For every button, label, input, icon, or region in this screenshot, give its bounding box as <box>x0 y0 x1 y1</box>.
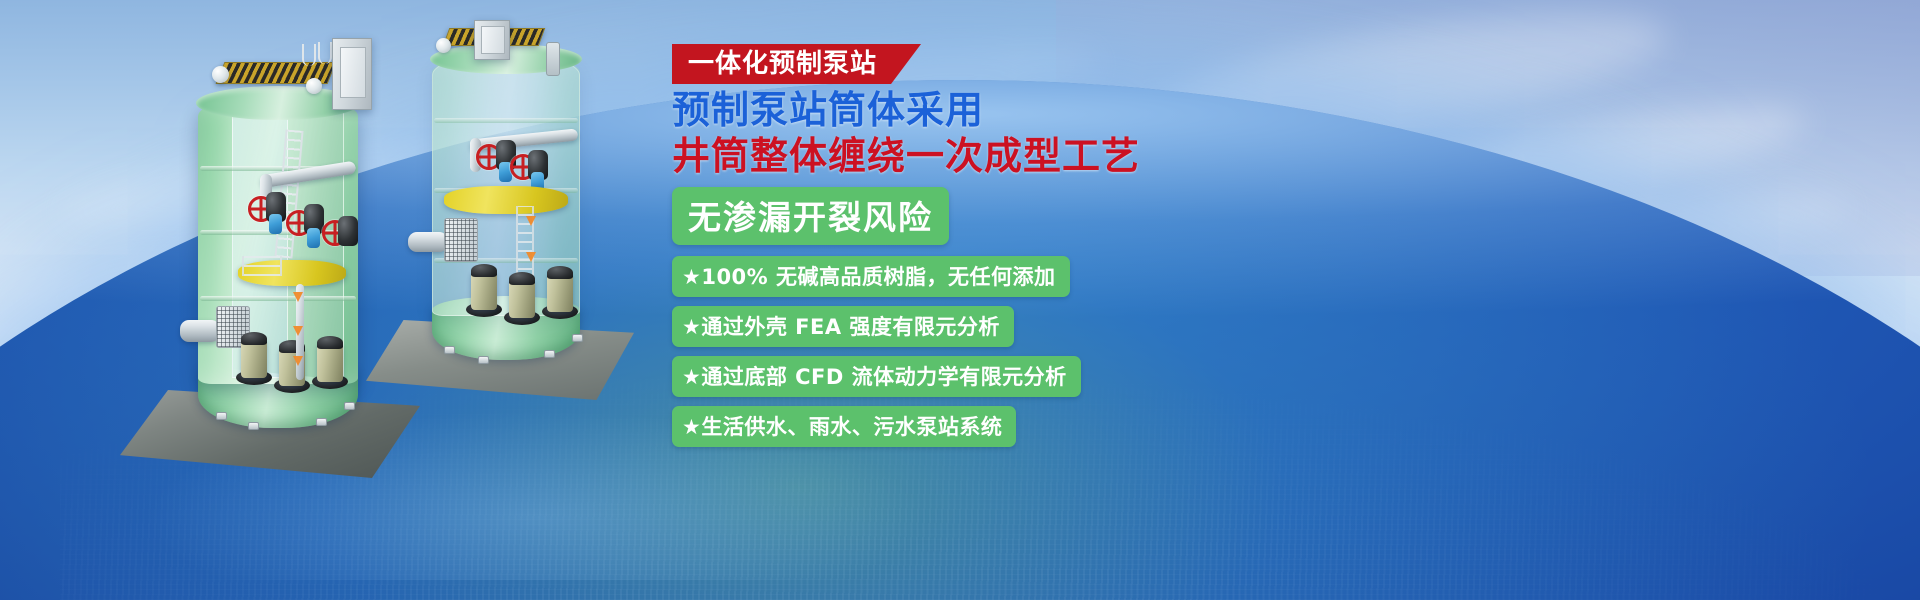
platform-handrail <box>242 256 282 276</box>
pump-motor-cap <box>241 332 267 345</box>
banner-copy-block: 一体化预制泵站 预制泵站筒体采用 井筒整体缠绕一次成型工艺 无渗漏开裂风险 ★1… <box>672 44 1272 456</box>
inlet-pipe <box>408 232 448 252</box>
anchor-bolt <box>444 346 455 354</box>
flow-direction-arrow <box>526 252 536 262</box>
ribbon-label: 一体化预制泵站 <box>688 44 877 84</box>
flow-direction-arrow <box>293 356 303 366</box>
feature-item-resin: ★100% 无碱高品质树脂，无任何添加 <box>672 256 1070 297</box>
ribbon-tag: 一体化预制泵站 <box>672 44 921 84</box>
lifting-hook <box>302 44 316 66</box>
intermediate-platform <box>444 186 568 214</box>
flow-direction-arrow <box>526 216 536 226</box>
pump-motor-cap <box>471 264 497 277</box>
solids-separator-basket <box>444 218 478 262</box>
anchor-bolt <box>572 334 583 342</box>
deck-vent-knob <box>436 38 451 53</box>
feature-item-fea: ★通过外壳 FEA 强度有限元分析 <box>672 306 1014 347</box>
inlet-pipe <box>180 320 220 342</box>
headline-primary: 预制泵站筒体采用 <box>672 88 1272 133</box>
flow-direction-arrow <box>293 292 303 302</box>
anchor-bolt <box>544 350 555 358</box>
pump-motor-cap <box>509 272 535 285</box>
anchor-bolt <box>216 412 227 420</box>
anchor-bolt <box>478 356 489 364</box>
feature-list: ★100% 无碱高品质树脂，无任何添加 ★通过外壳 FEA 强度有限元分析 ★通… <box>672 256 1272 447</box>
flow-direction-arrow <box>293 326 303 336</box>
valve-body-blue <box>269 214 282 234</box>
pump-motor-cap <box>547 266 573 279</box>
feature-item-applications: ★生活供水、雨水、污水泵站系统 <box>672 406 1016 447</box>
control-panel-cabinet <box>474 20 510 60</box>
hero-benefit-badge: 无渗漏开裂风险 <box>672 187 949 245</box>
headline-secondary: 井筒整体缠绕一次成型工艺 <box>672 134 1272 179</box>
vent-stack <box>546 42 560 76</box>
feature-item-cfd: ★通过底部 CFD 流体动力学有限元分析 <box>672 356 1081 397</box>
product-banner: 一体化预制泵站 预制泵站筒体采用 井筒整体缠绕一次成型工艺 无渗漏开裂风险 ★1… <box>0 0 1920 600</box>
deck-vent-knob <box>212 66 229 83</box>
shell-rib <box>434 118 578 123</box>
pump-station-full-model <box>320 20 720 440</box>
valve-body-blue <box>307 228 320 248</box>
anchor-bolt <box>248 422 259 430</box>
